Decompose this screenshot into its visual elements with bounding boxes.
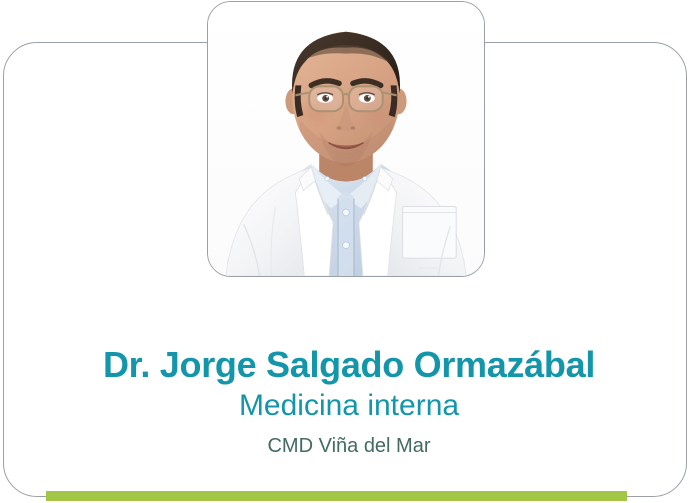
doctor-name: Dr. Jorge Salgado Ormazábal (4, 343, 690, 387)
doctor-info-text-block: Dr. Jorge Salgado Ormazábal Medicina int… (4, 343, 690, 459)
accent-bar (46, 491, 627, 501)
doctor-medical-center: CMD Viña del Mar (4, 433, 690, 459)
doctor-portrait-illustration (208, 2, 484, 276)
doctor-specialty: Medicina interna (4, 388, 690, 424)
doctor-photo-frame (207, 1, 485, 277)
doctor-photo (208, 2, 484, 276)
doctor-profile-card-root: Dr. Jorge Salgado Ormazábal Medicina int… (0, 0, 690, 503)
